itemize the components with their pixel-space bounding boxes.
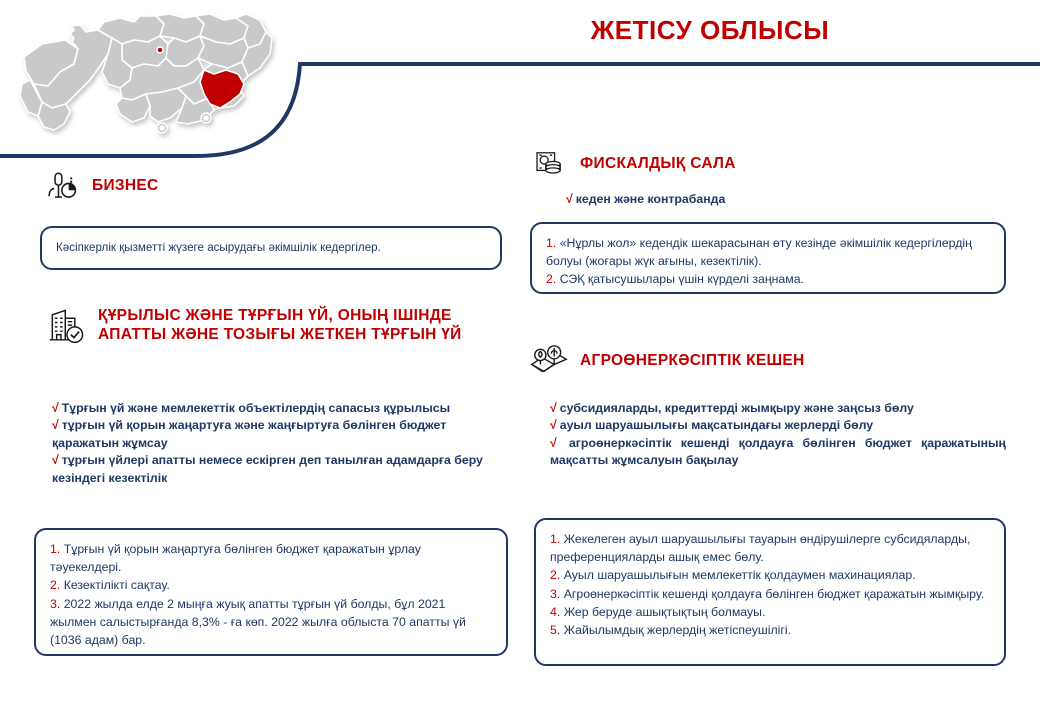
list-item: 4. Жер беруде ашықтықтың болмауы. — [550, 603, 990, 621]
item-number: 3. — [50, 597, 60, 611]
list-item: √ агроөнеркәсіптік кешенді қолдауға бөлі… — [550, 435, 1006, 470]
item-number: 1. — [50, 542, 60, 556]
bullet-text: субсидияларды, кредиттерді жымқыру және … — [560, 401, 914, 415]
list-item: 3. Агроөнеркәсіптік кешенді қолдауға бөл… — [550, 585, 990, 603]
item-number: 1. — [550, 532, 560, 546]
item-text: Ауыл шаруашылығын мемлекеттік қолдаумен … — [564, 568, 916, 582]
item-text: Жер беруде ашықтықтың болмауы. — [564, 605, 766, 619]
item-text: 2022 жылда елде 2 мыңға жуық апатты тұрғ… — [50, 597, 466, 647]
list-item: 1. Тұрғын үй қорын жаңартуға бөлінген бю… — [50, 540, 492, 576]
check-mark-icon: √ — [52, 453, 59, 467]
bullet-text: тұрғын үй қорын жаңартуға және жаңғыртуғ… — [52, 418, 446, 449]
list-item: 2. Ауыл шаруашылығын мемлекеттік қолдаум… — [550, 566, 990, 584]
item-number: 2. — [50, 578, 60, 592]
business-note-box: Кәсіпкерлік қызметті жүзеге асырудағы әк… — [40, 226, 502, 270]
agro-items-box: 1. Жекелеген ауыл шаруашылығы тауарын өн… — [534, 518, 1006, 666]
check-mark-icon: √ — [566, 192, 573, 206]
bullet-text: кеден және контрабанда — [576, 192, 726, 206]
list-item: 2. СЭҚ қатысушылары үшін күрделі заңнама… — [546, 270, 990, 288]
item-number: 2. — [550, 568, 560, 582]
list-item: √ауыл шаруашылығы мақсатындағы жерлерді … — [550, 417, 1006, 434]
page-title: ЖЕТІСУ ОБЛЫСЫ — [380, 15, 1040, 46]
slide-root: ЖЕТІСУ ОБЛЫСЫ БИЗНЕС Кәсіпкерлік қызметт… — [0, 0, 1040, 720]
kazakhstan-map-icon — [8, 8, 278, 153]
section-fiscal-header: ФИСКАЛДЫҚ САЛА — [528, 143, 1008, 185]
check-mark-icon: √ — [550, 418, 557, 432]
section-housing-header: ҚҰРЫЛЫС ЖӘНЕ ТҰРҒЫН ҮЙ, ОНЫҢ ІШІНДЕ АПАТ… — [46, 305, 516, 347]
list-item: 3. 2022 жылда елде 2 мыңға жуық апатты т… — [50, 595, 492, 650]
list-item: 1. «Нұрлы жол» кедендік шекарасынан өту … — [546, 234, 990, 270]
check-mark-icon: √ — [550, 401, 557, 415]
section-agro-header: АГРОӨНЕРКӘСІПТІК КЕШЕН — [528, 340, 1008, 382]
list-item: √субсидияларды, кредиттерді жымқыру және… — [550, 400, 1006, 417]
section-business-header: БИЗНЕС — [40, 165, 510, 207]
agro-bullets: √субсидияларды, кредиттерді жымқыру және… — [550, 400, 1006, 470]
item-number: 5. — [550, 623, 560, 637]
fiscal-items-box: 1. «Нұрлы жол» кедендік шекарасынан өту … — [530, 222, 1006, 294]
item-text: Кезектілікті сақтау. — [64, 578, 170, 592]
section-housing-title: ҚҰРЫЛЫС ЖӘНЕ ТҰРҒЫН ҮЙ, ОНЫҢ ІШІНДЕ АПАТ… — [98, 307, 462, 345]
section-business-title: БИЗНЕС — [92, 177, 159, 196]
list-item: √Тұрғын үй және мемлекеттік объектілерді… — [52, 400, 512, 417]
check-mark-icon: √ — [52, 401, 59, 415]
item-number: 3. — [550, 587, 560, 601]
bullet-text: ауыл шаруашылығы мақсатындағы жерлерді б… — [560, 418, 873, 432]
item-number: 1. — [546, 236, 556, 250]
check-mark-icon: √ — [52, 418, 59, 432]
section-housing: ҚҰРЫЛЫС ЖӘНЕ ТҰРҒЫН ҮЙ, ОНЫҢ ІШІНДЕ АПАТ… — [46, 305, 516, 347]
list-item: 5. Жайылымдық жерлердің жетіспеушілігі. — [550, 621, 990, 639]
business-note-text: Кәсіпкерлік қызметті жүзеге асырудағы әк… — [56, 239, 381, 256]
item-text: Агроөнеркәсіптік кешенді қолдауға бөлінг… — [564, 587, 985, 601]
housing-items-box: 1. Тұрғын үй қорын жаңартуға бөлінген бю… — [34, 528, 508, 656]
bullet-text: Тұрғын үй және мемлекеттік объектілердің… — [62, 401, 450, 415]
item-text: Тұрғын үй қорын жаңартуға бөлінген бюдже… — [50, 542, 421, 574]
section-agro: АГРОӨНЕРКӘСІПТІК КЕШЕН — [528, 340, 1008, 382]
list-item: √тұрғын үй қорын жаңартуға және жаңғырту… — [52, 417, 512, 452]
item-text: Жекелеген ауыл шаруашылығы тауарын өндір… — [550, 532, 970, 564]
item-text: СЭҚ қатысушылары үшін күрделі заңнама. — [560, 272, 804, 286]
item-text: Жайылымдық жерлердің жетіспеушілігі. — [564, 623, 791, 637]
bullet-text: тұрғын үйлері апатты немесе ескірген деп… — [52, 453, 483, 484]
list-item: √тұрғын үйлері апатты немесе ескірген де… — [52, 452, 512, 487]
section-fiscal-title: ФИСКАЛДЫҚ САЛА — [580, 155, 736, 174]
list-item: 1. Жекелеген ауыл шаруашылығы тауарын өн… — [550, 530, 990, 566]
buildings-check-icon — [46, 305, 88, 347]
section-housing-title-line1: ҚҰРЫЛЫС ЖӘНЕ ТҰРҒЫН ҮЙ, ОНЫҢ ІШІНДЕ — [98, 307, 452, 324]
map-pins-agriculture-icon — [528, 340, 570, 382]
money-coins-icon — [528, 143, 570, 185]
list-item: √кеден және контрабанда — [566, 191, 1008, 208]
section-business: БИЗНЕС — [40, 165, 510, 207]
kazakhstan-map — [8, 8, 278, 153]
section-fiscal: ФИСКАЛДЫҚ САЛА √кеден және контрабанда — [528, 143, 1008, 208]
section-fiscal-bullets: √кеден және контрабанда — [566, 191, 1008, 208]
list-item: 2. Кезектілікті сақтау. — [50, 576, 492, 594]
item-number: 4. — [550, 605, 560, 619]
check-mark-icon: √ — [550, 436, 557, 450]
housing-bullets: √Тұрғын үй және мемлекеттік объектілерді… — [52, 400, 512, 487]
section-housing-title-line2: АПАТТЫ ЖӘНЕ ТОЗЫҒЫ ЖЕТКЕН ТҰРҒЫН ҮЙ — [98, 326, 462, 343]
section-agro-title: АГРОӨНЕРКӘСІПТІК КЕШЕН — [580, 352, 805, 371]
item-number: 2. — [546, 272, 556, 286]
bullet-text: агроөнеркәсіптік кешенді қолдауға бөлінг… — [550, 436, 1006, 467]
person-pie-chart-icon — [40, 165, 82, 207]
item-text: «Нұрлы жол» кедендік шекарасынан өту кез… — [546, 236, 972, 268]
